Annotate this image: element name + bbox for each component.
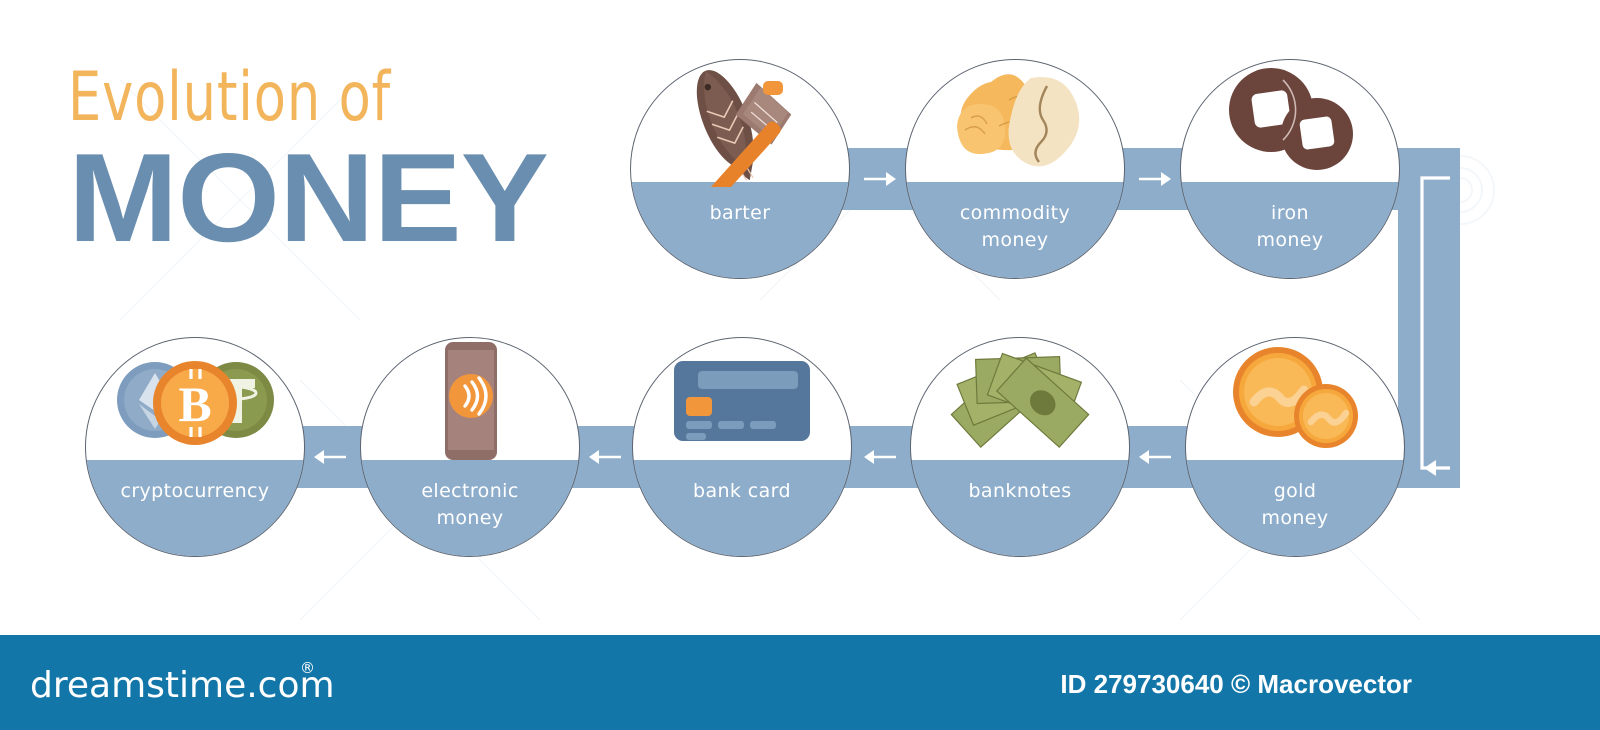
fish-and-axe-icon — [631, 60, 849, 184]
iron-money-label-line2: money — [1256, 227, 1323, 254]
crypto-coins-icon: B — [86, 338, 304, 462]
electronic-money-label-line2: money — [436, 505, 503, 532]
svg-text:B: B — [178, 376, 211, 432]
electronic-money-label: electronic money — [361, 460, 579, 556]
gold-money-label-line1: gold — [1274, 478, 1317, 505]
node-banknotes[interactable]: banknotes — [910, 337, 1130, 557]
iron-money-label: iron money — [1181, 182, 1399, 278]
banknote-fan-icon — [911, 338, 1129, 462]
gold-money-label: gold money — [1186, 460, 1404, 556]
arrow-left-icon-4 — [310, 447, 350, 467]
smartphone-nfc-icon — [361, 338, 579, 462]
bank-card-label: bank card — [633, 460, 851, 556]
commodity-money-label-line2: money — [981, 227, 1048, 254]
iron-money-label-line1: iron — [1271, 200, 1309, 227]
bank-card-label-text: bank card — [693, 478, 791, 505]
barter-label-text: barter — [710, 200, 771, 227]
arrow-left-icon-1 — [1135, 447, 1175, 467]
node-commodity-money[interactable]: commodity money — [905, 59, 1125, 279]
wrap-down-arrow-icon — [1398, 148, 1468, 498]
title-line-evolution-of: Evolution of — [68, 62, 532, 134]
node-cryptocurrency[interactable]: B cryptocurrency — [85, 337, 305, 557]
arrow-left-icon-3 — [585, 447, 625, 467]
banknotes-label: banknotes — [911, 460, 1129, 556]
title-line-money: MONEY — [68, 142, 635, 254]
arrow-left-icon-2 — [860, 447, 900, 467]
gold-coins-icon — [1186, 338, 1404, 462]
arrow-right-icon-2 — [1135, 169, 1175, 189]
dreamstime-logo-text: dreamstime.com — [30, 665, 335, 706]
bank-card-icon — [633, 338, 851, 462]
arrow-right-icon-1 — [860, 169, 900, 189]
node-gold-money[interactable]: gold money — [1185, 337, 1405, 557]
electronic-money-label-line1: electronic — [421, 478, 518, 505]
commodity-money-label-line1: commodity — [960, 200, 1070, 227]
gold-money-label-line2: money — [1261, 505, 1328, 532]
commodity-money-label: commodity money — [906, 182, 1124, 278]
page-title: Evolution of MONEY — [68, 62, 608, 254]
barter-label: barter — [631, 182, 849, 278]
node-iron-money[interactable]: iron money — [1180, 59, 1400, 279]
node-barter[interactable]: barter — [630, 59, 850, 279]
registered-mark-icon: ® — [300, 659, 315, 677]
banknotes-label-text: banknotes — [968, 478, 1071, 505]
infographic-canvas: Evolution of MONEY — [0, 0, 1600, 620]
cryptocurrency-label-text: cryptocurrency — [120, 478, 269, 505]
node-bank-card[interactable]: bank card — [632, 337, 852, 557]
cryptocurrency-label: cryptocurrency — [86, 460, 304, 556]
node-electronic-money[interactable]: electronic money — [360, 337, 580, 557]
iron-coins-icon — [1181, 60, 1399, 184]
footer-credit-text: ID 279730640 © Macrovector — [1060, 669, 1412, 700]
grain-and-shell-icon — [906, 60, 1124, 184]
dreamstime-footer-bar: dreamstime.com ® ID 279730640 © Macrovec… — [0, 635, 1600, 730]
